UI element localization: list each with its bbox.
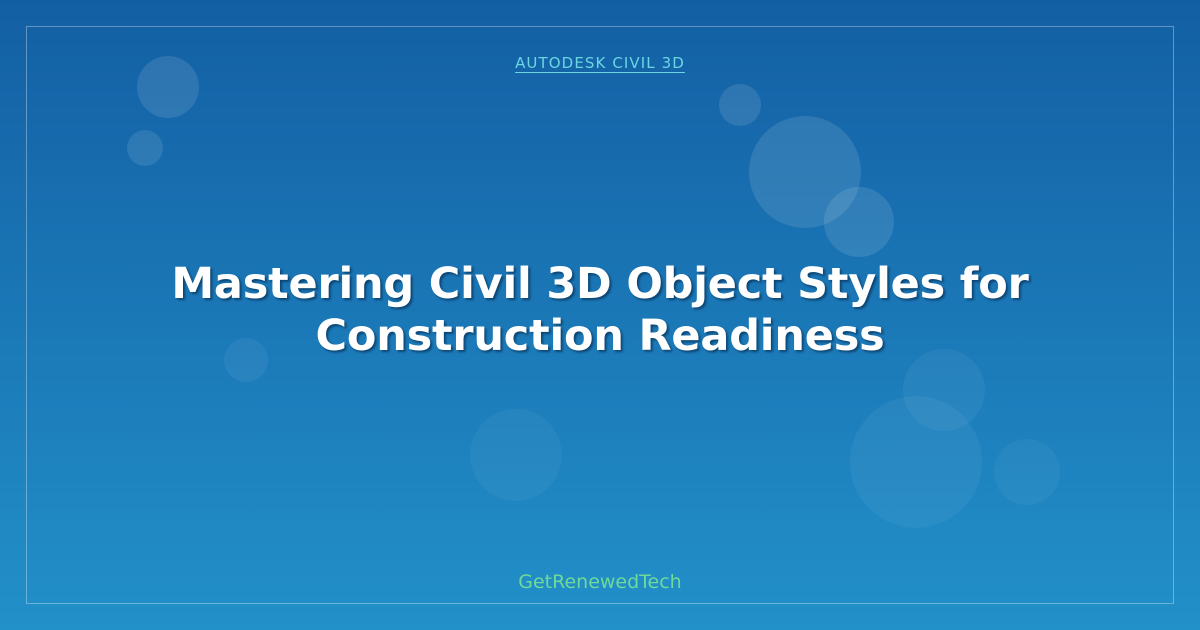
title-block: Mastering Civil 3D Object Styles for Con… <box>0 258 1200 362</box>
category-eyebrow-label[interactable]: AUTODESK CIVIL 3D <box>0 54 1200 72</box>
footer-brand-label[interactable]: GetRenewedTech <box>0 571 1200 593</box>
card-content: AUTODESK CIVIL 3D Mastering Civil 3D Obj… <box>0 0 1200 630</box>
social-share-card: AUTODESK CIVIL 3D Mastering Civil 3D Obj… <box>0 0 1200 630</box>
page-title: Mastering Civil 3D Object Styles for Con… <box>110 258 1090 362</box>
